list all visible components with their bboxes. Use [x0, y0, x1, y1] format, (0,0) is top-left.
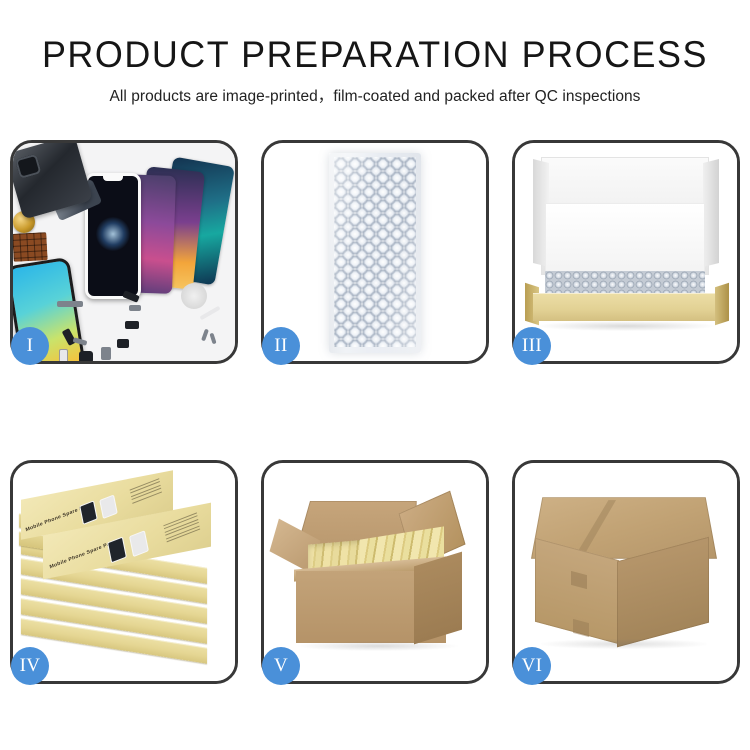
part-speaker-icon — [79, 351, 93, 361]
mailer-right-side — [715, 283, 729, 326]
mailer-shadow — [537, 321, 715, 331]
process-step-6: VI — [512, 460, 740, 684]
step-5-image — [264, 463, 486, 681]
page-header: PRODUCT PREPARATION PROCESS All products… — [0, 0, 750, 108]
process-step-1: I — [10, 140, 238, 364]
mailer-front-panel — [533, 293, 715, 321]
box-spec-lines-front — [163, 512, 200, 544]
process-step-2: II — [261, 140, 489, 364]
sealed-carton-shadow — [541, 639, 707, 649]
part-sim-tray-icon — [59, 349, 68, 361]
step-1-image — [13, 143, 235, 361]
process-step-3: III — [512, 140, 740, 364]
part-battery-icon — [101, 347, 111, 360]
box-spec-lines-rear — [130, 478, 163, 505]
part-camera-icon — [117, 339, 129, 348]
box-phone-image-4 — [99, 494, 118, 519]
part-module-icon — [125, 321, 139, 329]
part-strip-icon — [57, 301, 83, 307]
part-bracket-icon — [129, 305, 141, 311]
bubble-wrap-sheet — [329, 153, 421, 353]
process-step-grid: I II — [10, 140, 740, 684]
carton-shadow — [298, 641, 458, 651]
carton-side-face — [414, 552, 462, 645]
page-title: PRODUCT PREPARATION PROCESS — [11, 33, 739, 77]
step-3-image — [515, 143, 737, 361]
box-phone-image-3 — [79, 500, 98, 525]
part-hand-icon — [181, 283, 207, 309]
part-screw-2-icon — [209, 333, 216, 345]
step-badge-5: V — [262, 647, 300, 685]
step-badge-4: IV — [11, 647, 49, 685]
part-screw-icon — [201, 329, 209, 342]
part-screwdriver-icon — [199, 306, 220, 320]
plastic-sheen — [329, 153, 421, 353]
box-stack: Mobile Phone Spare Parts Mobile Phone Sp… — [19, 481, 231, 671]
sealed-carton-handle-bottom — [573, 619, 589, 637]
step-badge-1: I — [11, 327, 49, 365]
mailer-foam-insert — [545, 203, 705, 275]
step-6-image — [515, 463, 737, 681]
page-subtitle: All products are image-printed，film-coat… — [0, 86, 750, 108]
step-badge-3: III — [513, 327, 551, 365]
process-step-4: Mobile Phone Spare Parts Mobile Phone Sp… — [10, 460, 238, 684]
step-badge-6: VI — [513, 647, 551, 685]
process-step-5: V — [261, 460, 489, 684]
box-phone-image-1 — [107, 537, 127, 564]
mailer-lid-right-flap — [703, 159, 719, 267]
box-phone-image-2 — [129, 530, 149, 557]
product-preparation-page: PRODUCT PREPARATION PROCESS All products… — [0, 0, 750, 750]
chip-grid-icon — [13, 232, 48, 262]
step-2-image — [264, 143, 486, 361]
step-4-image: Mobile Phone Spare Parts Mobile Phone Sp… — [13, 463, 235, 681]
step-badge-2: II — [262, 327, 300, 365]
